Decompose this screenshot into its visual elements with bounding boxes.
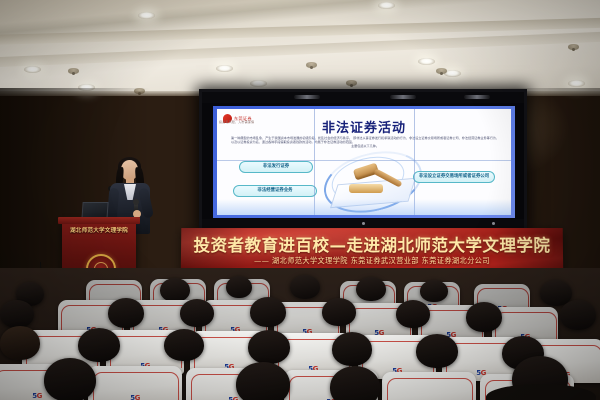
panel-seam-horizontal bbox=[217, 160, 511, 161]
slide-tag-illegal-issuance: 非法发行证券 bbox=[239, 161, 313, 173]
audience-head bbox=[164, 329, 204, 361]
downlight-icon bbox=[216, 65, 233, 72]
slide-body-line-4: 主要包括以下几种。 bbox=[231, 144, 499, 148]
audience-head bbox=[396, 300, 430, 328]
ceiling bbox=[0, 0, 600, 96]
audience-head bbox=[0, 300, 34, 328]
presentation-slide: 东莞证券 投资有风险，入市需谨慎 非法证券活动 第一种典型的市场乱象，产生于我国… bbox=[217, 109, 511, 215]
audience-head bbox=[108, 298, 144, 328]
downlight-icon bbox=[568, 80, 585, 87]
seat-logo-5g: 5G bbox=[228, 396, 238, 400]
audience-head bbox=[236, 362, 290, 400]
led-video-wall: 东莞证券 投资有风险，入市需谨慎 非法证券活动 第一种典型的市场乱象，产生于我国… bbox=[199, 89, 527, 231]
sprinkler-icon bbox=[346, 80, 357, 86]
downlight-icon bbox=[378, 2, 395, 9]
downlight-icon bbox=[138, 12, 155, 19]
downlight-icon bbox=[24, 66, 41, 73]
audience-head bbox=[290, 275, 320, 299]
audience-head bbox=[416, 334, 458, 368]
slide-title: 非法证券活动 bbox=[217, 117, 511, 136]
seat-logo-5g: 5G bbox=[130, 394, 140, 400]
audience-head bbox=[332, 332, 372, 366]
audience-head bbox=[250, 297, 286, 327]
lectern-top bbox=[58, 217, 140, 224]
audience-head bbox=[420, 280, 448, 302]
sprinkler-icon bbox=[306, 62, 317, 68]
video-wall-bottom-bezel bbox=[202, 219, 524, 228]
slide-tag-illegal-establishment: 非法设立证券交易场所或者证券公司 bbox=[413, 171, 495, 183]
audience-head bbox=[78, 328, 120, 362]
slide-body-text: 第一种典型的市场乱象，产生于我国资本市场发展的初级阶段，扰乱社会的经济与秩序。 … bbox=[231, 136, 499, 148]
banner-subtitle: —— 湖北师范大学文理学院 东莞证券武汉营业部 东莞证券湖北分公司 bbox=[181, 256, 563, 266]
downlight-icon bbox=[418, 58, 435, 65]
seat-logo-5g: 5G bbox=[32, 392, 42, 400]
audience-head bbox=[226, 276, 252, 298]
audience-head bbox=[356, 277, 386, 301]
sprinkler-icon bbox=[68, 68, 79, 74]
audience-head bbox=[322, 298, 356, 326]
slide-body-line-2: 即非法从事证券发行和承销活动的行为、非法设立证券交易场所或者证券公司、非法经营证… bbox=[353, 136, 499, 140]
panel-seam-vertical bbox=[314, 109, 315, 215]
audience-head bbox=[0, 326, 40, 360]
audience-head bbox=[248, 330, 290, 364]
projection-screen: 东莞证券 投资有风险，入市需谨慎 非法证券活动 第一种典型的市场乱象，产生于我国… bbox=[213, 106, 515, 218]
sprinkler-icon bbox=[568, 44, 579, 50]
downlight-icon bbox=[250, 80, 267, 87]
panel-seam-vertical bbox=[414, 109, 415, 215]
slide-body-line-3: 以及以证券投资为名，通过各种手段骗取投资者钱款的活动，均属于非法证券活动的范围。 bbox=[231, 140, 355, 144]
video-wall-top-bezel bbox=[202, 92, 524, 103]
audience-head bbox=[560, 300, 596, 330]
slide-tag-illegal-operation: 非法经营证券业务 bbox=[233, 185, 317, 197]
seat: 5G bbox=[88, 366, 182, 400]
audience-head bbox=[466, 302, 502, 332]
banner-main-title: 投资者教育进百校—走进湖北师范大学文理学院 bbox=[181, 232, 563, 256]
auditorium-photo: 东莞证券 投资有风险，入市需谨慎 非法证券活动 第一种典型的市场乱象，产生于我国… bbox=[0, 0, 600, 400]
audience-head bbox=[330, 366, 380, 400]
sprinkler-icon bbox=[436, 68, 447, 74]
audience-head bbox=[160, 278, 190, 302]
lectern-sign: 湖北师范大学文理学院 bbox=[65, 226, 133, 234]
seat: 5G bbox=[382, 372, 476, 400]
audience-head bbox=[44, 358, 96, 400]
sound-block-icon bbox=[349, 184, 383, 193]
audience-head bbox=[180, 299, 214, 327]
